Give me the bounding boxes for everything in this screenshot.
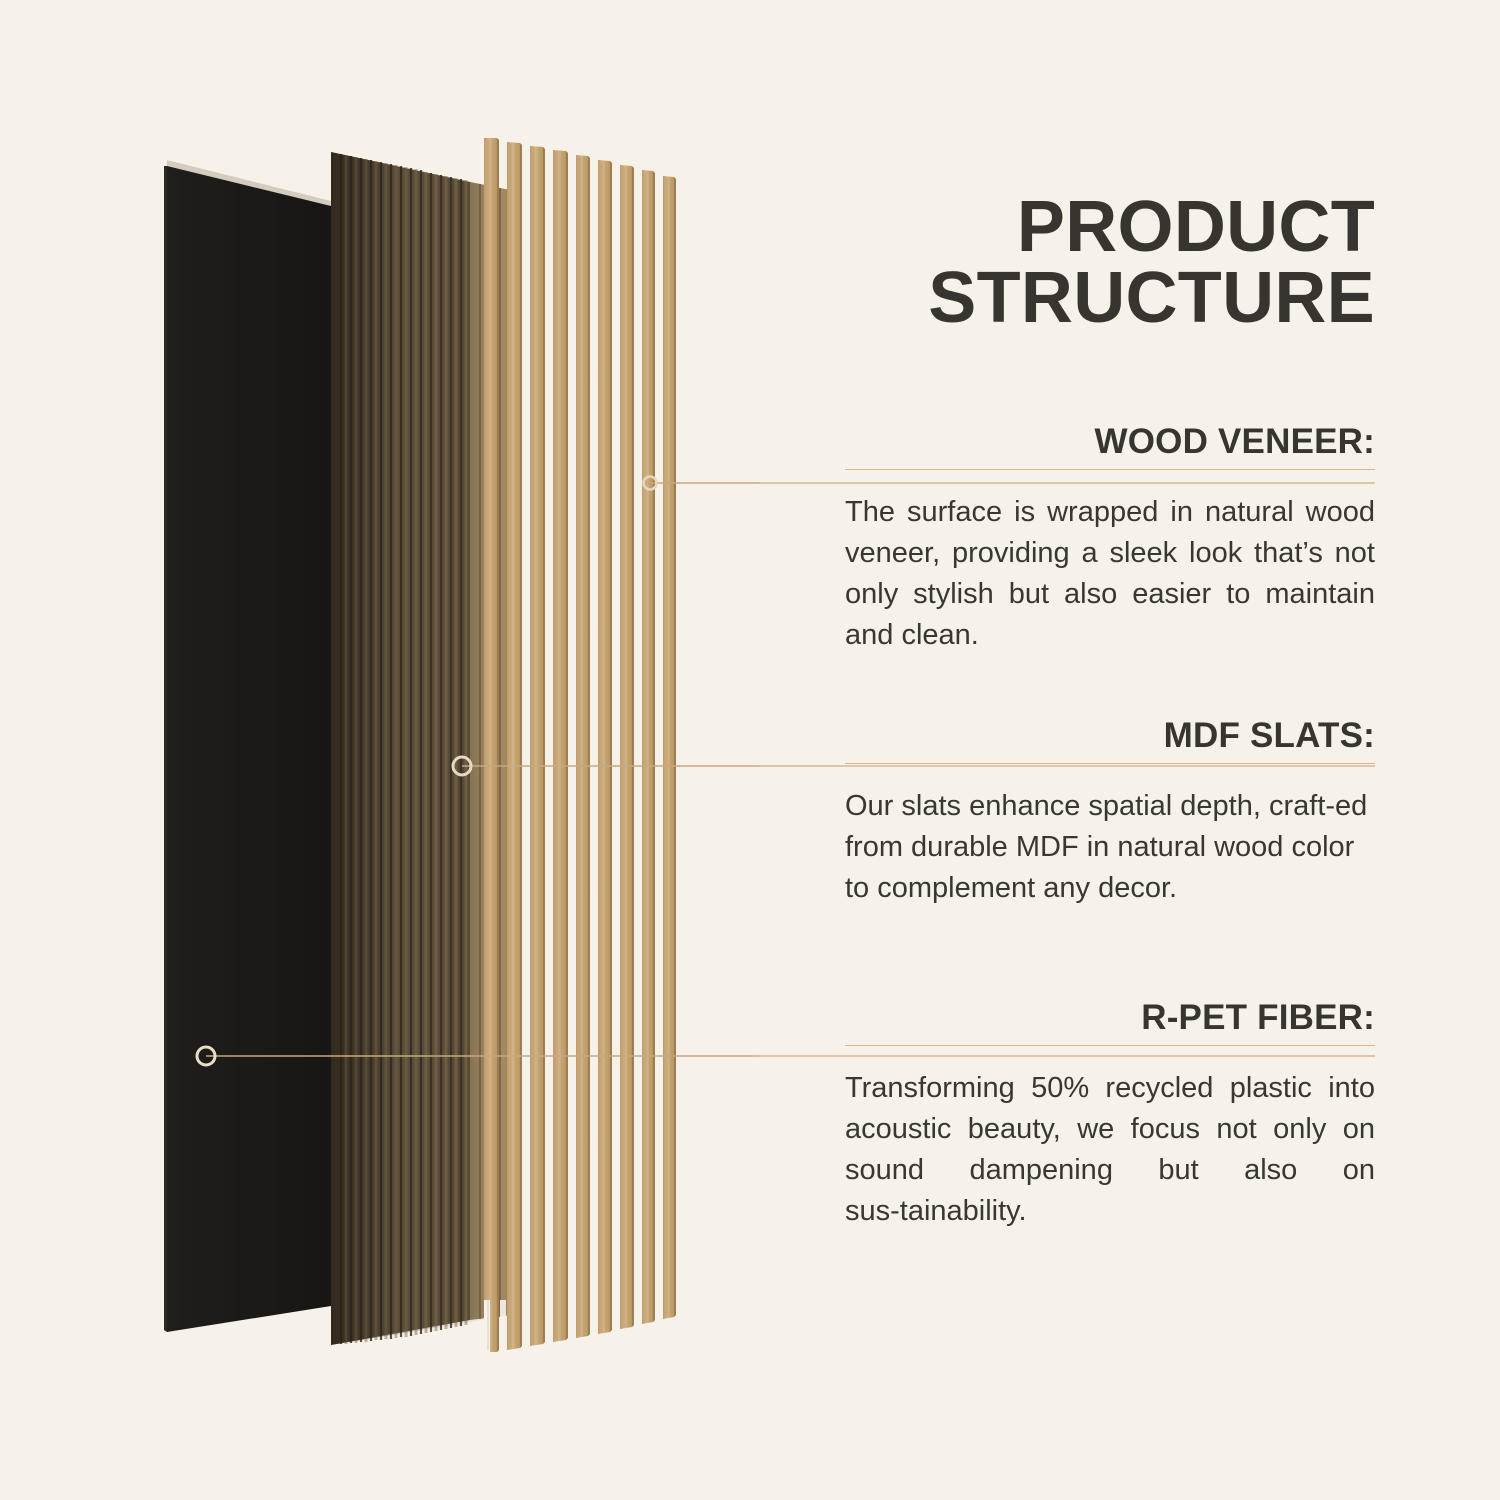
content-column: PRODUCT STRUCTURE WOOD VENEER: The surfa… — [845, 0, 1375, 1500]
section-body-wood-veneer: The surface is wrapped in natural wood v… — [845, 492, 1375, 657]
section-heading-r-pet-fiber: R-PET FIBER: — [845, 1000, 1375, 1045]
section-heading-wood-veneer: WOOD VENEER: — [845, 424, 1375, 469]
section-divider-r-pet-fiber — [845, 1045, 1375, 1046]
product-illustration — [0, 0, 760, 1500]
section-wood-veneer: WOOD VENEER: The surface is wrapped in n… — [845, 424, 1375, 656]
section-divider-wood-veneer — [845, 469, 1375, 470]
section-divider-mdf-slats — [845, 763, 1375, 764]
section-r-pet-fiber: R-PET FIBER: Transforming 50% recycled p… — [845, 1000, 1375, 1232]
section-body-r-pet-fiber: Transforming 50% recycled plastic into a… — [845, 1068, 1375, 1233]
page-title: PRODUCT STRUCTURE — [845, 192, 1375, 333]
infographic-root: PRODUCT STRUCTURE WOOD VENEER: The surfa… — [0, 0, 1500, 1500]
section-body-mdf-slats: Our slats enhance spatial depth, craft‑e… — [845, 786, 1375, 910]
leader-wood-veneer — [644, 477, 761, 490]
section-heading-mdf-slats: MDF SLATS: — [845, 718, 1375, 763]
wood-veneer-front-slats — [484, 138, 676, 1352]
section-mdf-slats: MDF SLATS: Our slats enhance spatial dep… — [845, 718, 1375, 909]
r-pet-fiber-backing-panel — [164, 160, 331, 1332]
